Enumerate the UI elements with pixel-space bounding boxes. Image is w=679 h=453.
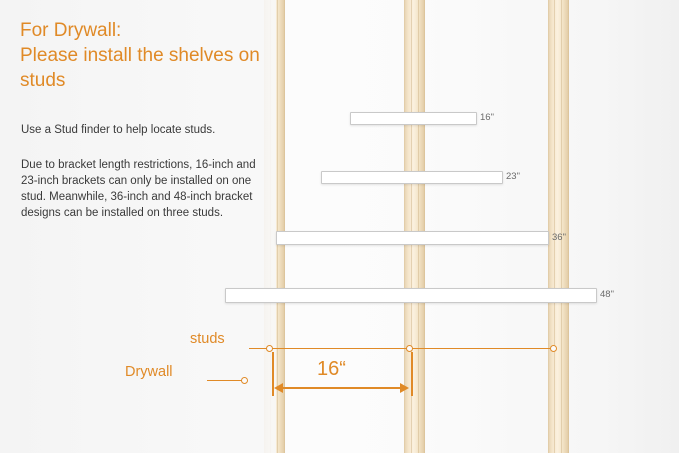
shelf-label-16: 16" (480, 113, 494, 123)
dim-text-16in: 16“ (317, 358, 346, 380)
text-panel: For Drywall: Please install the shelves … (0, 0, 276, 453)
shelf-36 (276, 231, 549, 245)
drywall-marker (241, 377, 248, 384)
shelf-label-23: 23" (506, 172, 520, 182)
studs-marker-left (266, 345, 273, 352)
shelf-label-48: 48" (600, 290, 614, 300)
diagram-canvas: For Drywall: Please install the shelves … (0, 0, 679, 453)
shelf-16 (350, 112, 477, 125)
drywall-callout-label: Drywall (125, 364, 173, 380)
studs-marker-center (406, 345, 413, 352)
studs-callout-label: studs (190, 331, 225, 347)
drywall-leader-line (207, 380, 243, 381)
dim-arrow-right (400, 383, 409, 393)
dim-arrow-left (274, 383, 283, 393)
paragraph-bracket-restrictions: Due to bracket length restrictions, 16-i… (21, 157, 266, 221)
dim-extension-right (411, 352, 413, 396)
dim-line-16in (280, 387, 404, 389)
studs-marker-right (550, 345, 557, 352)
shelf-48 (225, 288, 597, 303)
stud-right (548, 0, 569, 453)
studs-leader-line (249, 348, 556, 349)
shelf-23 (321, 171, 503, 184)
paragraph-stud-finder: Use a Stud finder to help locate studs. (21, 122, 266, 138)
shelf-label-36: 36" (552, 233, 566, 243)
headline: For Drywall: Please install the shelves … (20, 18, 270, 93)
